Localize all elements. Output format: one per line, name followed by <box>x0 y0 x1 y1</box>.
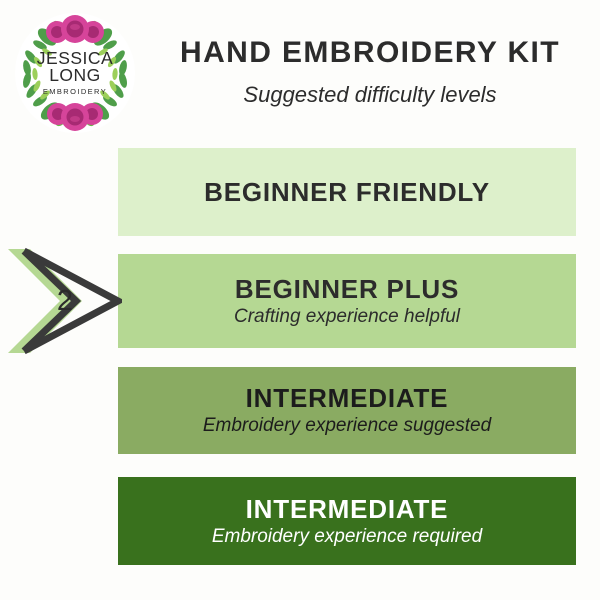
level-title: BEGINNER FRIENDLY <box>204 177 490 207</box>
difficulty-level-bar[interactable]: BEGINNER FRIENDLY <box>118 148 576 236</box>
difficulty-level-bar[interactable]: BEGINNER PLUSCrafting experience helpful <box>118 254 576 348</box>
infographic-canvas: JESSICA LONG EMBROIDERY HAND EMBROIDERY … <box>0 0 600 600</box>
level-subtitle: Crafting experience helpful <box>234 305 460 329</box>
brand-logo: JESSICA LONG EMBROIDERY <box>14 12 136 134</box>
level-subtitle: Embroidery experience required <box>212 525 482 549</box>
level-title: BEGINNER PLUS <box>235 274 459 304</box>
page-title: HAND EMBROIDERY KIT <box>150 36 590 70</box>
difficulty-level-bar[interactable]: INTERMEDIATEEmbroidery experience sugges… <box>118 367 576 454</box>
difficulty-level-bar[interactable]: INTERMEDIATEEmbroidery experience requir… <box>118 477 576 565</box>
current-level-marker: 2 <box>0 245 122 357</box>
level-subtitle: Embroidery experience suggested <box>203 414 491 438</box>
level-title: INTERMEDIATE <box>246 494 449 524</box>
floral-wreath-icon <box>14 12 136 134</box>
level-title: INTERMEDIATE <box>246 383 449 413</box>
chevron-arrow-icon <box>0 245 122 357</box>
page-subtitle: Suggested difficulty levels <box>150 82 590 108</box>
